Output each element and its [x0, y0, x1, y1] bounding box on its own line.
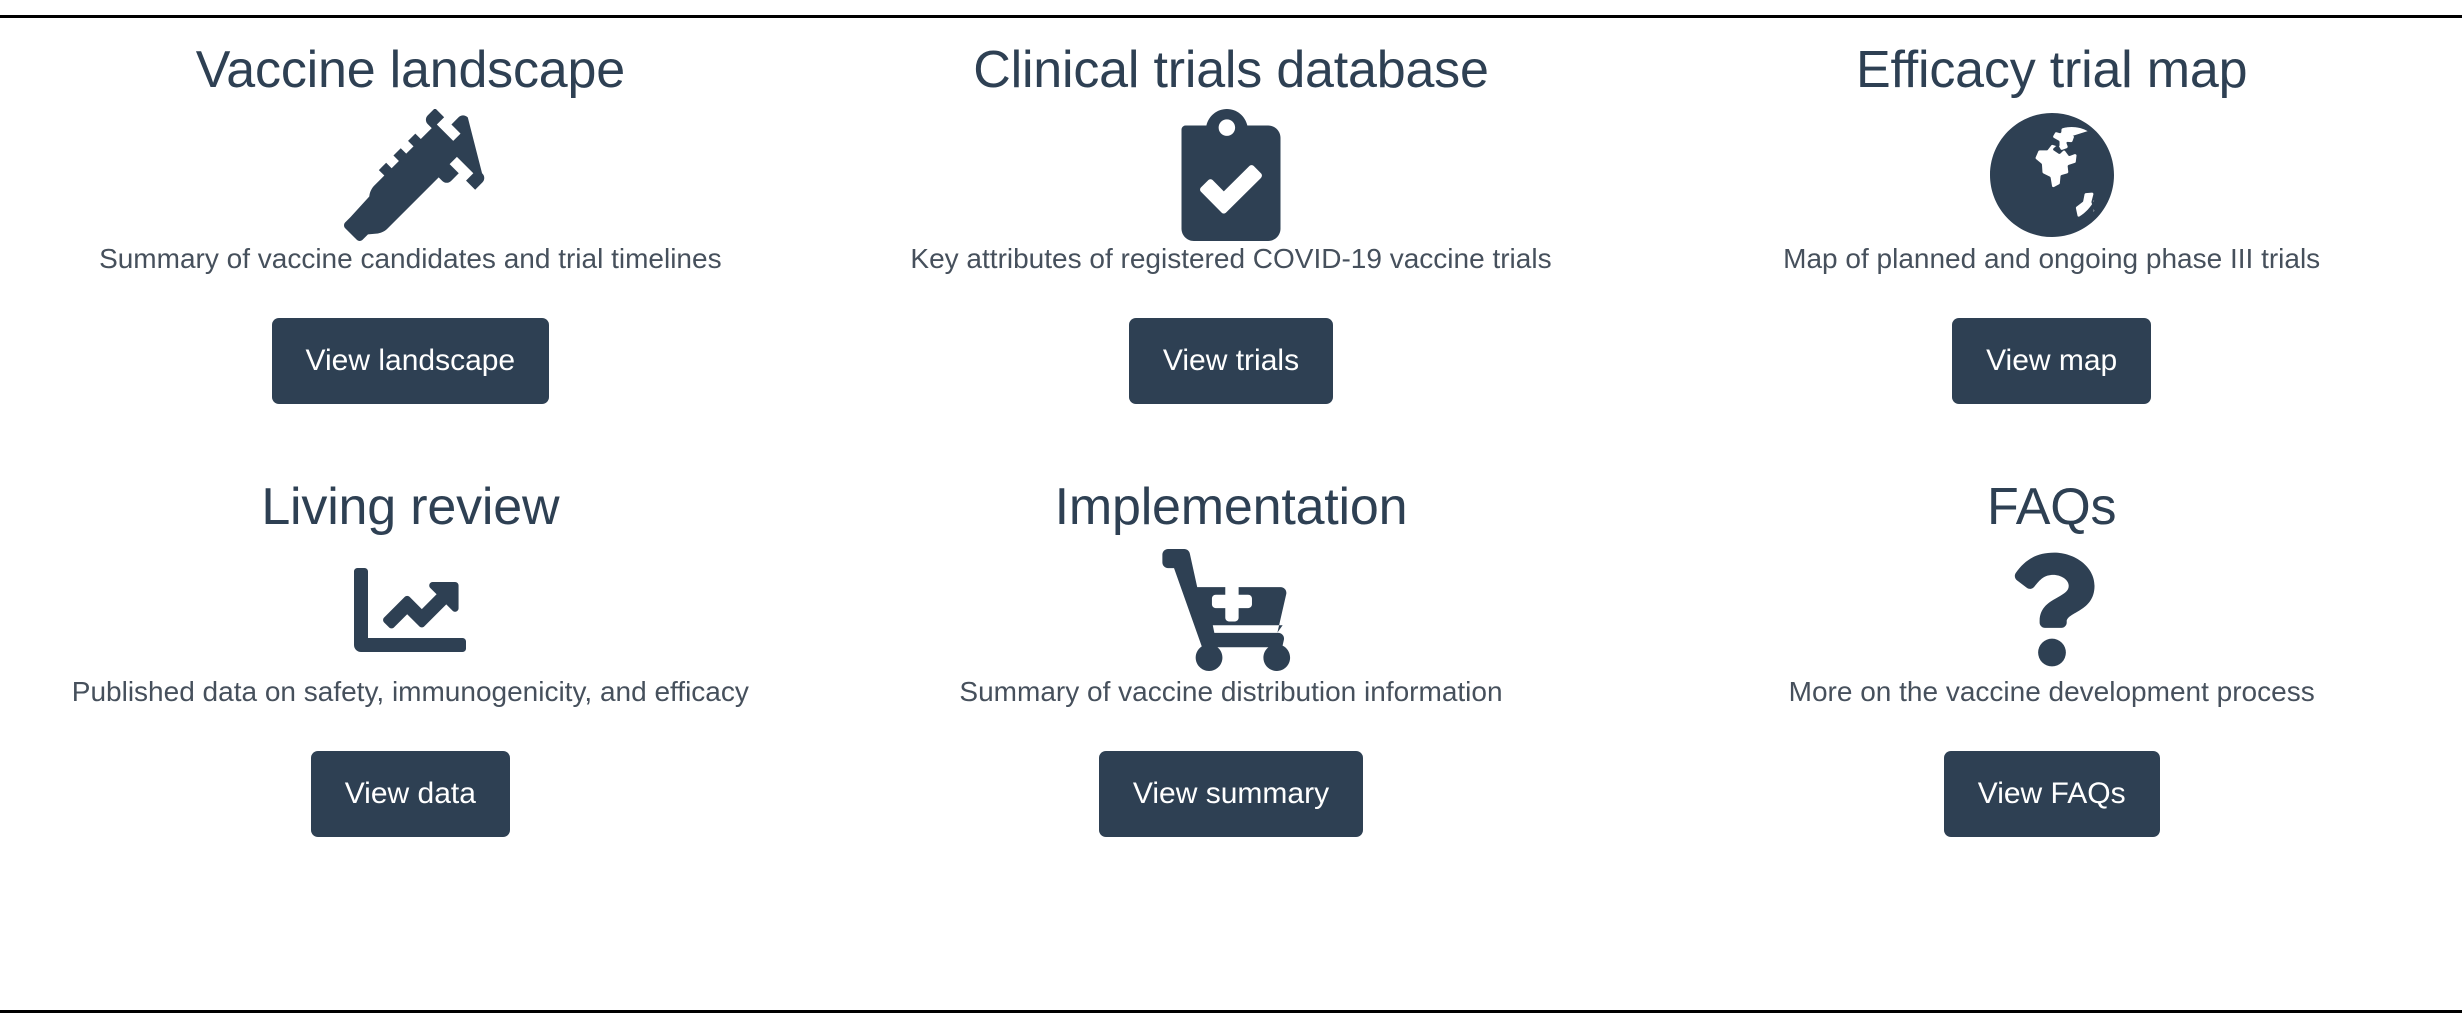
view-summary-button[interactable]: View summary — [1099, 751, 1363, 837]
cart-plus-icon — [1161, 546, 1301, 674]
card-living-review: Living review Published data on safety, … — [0, 479, 821, 916]
card-faqs: FAQs More on the vaccine development pro… — [1641, 479, 2462, 916]
syringe-icon — [335, 109, 485, 241]
card-grid: Vaccine landscape Summary of vaccine can… — [0, 18, 2462, 1008]
question-mark-icon — [2009, 546, 2095, 674]
card-description: Map of planned and ongoing phase III tri… — [1783, 241, 2320, 276]
chart-line-up-icon — [347, 546, 473, 674]
view-map-button[interactable]: View map — [1952, 318, 2151, 404]
card-title: Vaccine landscape — [196, 42, 625, 99]
card-title: FAQs — [1987, 479, 2116, 536]
bottom-divider — [0, 1010, 2462, 1013]
card-title: Living review — [261, 479, 559, 536]
view-landscape-button[interactable]: View landscape — [272, 318, 550, 404]
card-clinical-trials-database: Clinical trials database Key attributes … — [821, 42, 1642, 479]
card-efficacy-trial-map: Efficacy trial map Map of planned and on… — [1641, 42, 2462, 479]
view-data-button[interactable]: View data — [311, 751, 510, 837]
card-title: Efficacy trial map — [1856, 42, 2247, 99]
card-vaccine-landscape: Vaccine landscape Summary of vaccine can… — [0, 42, 821, 479]
card-title: Implementation — [1055, 479, 1408, 536]
card-description: Key attributes of registered COVID-19 va… — [910, 241, 1551, 276]
card-description: Summary of vaccine distribution informat… — [959, 674, 1502, 709]
card-description: Published data on safety, immunogenicity… — [72, 674, 749, 709]
card-description: More on the vaccine development process — [1789, 674, 2315, 709]
view-trials-button[interactable]: View trials — [1129, 318, 1333, 404]
resource-grid-page: Vaccine landscape Summary of vaccine can… — [0, 0, 2462, 1034]
card-description: Summary of vaccine candidates and trial … — [99, 241, 722, 276]
clipboard-check-icon — [1177, 109, 1285, 241]
card-title: Clinical trials database — [973, 42, 1488, 99]
view-faqs-button[interactable]: View FAQs — [1944, 751, 2160, 837]
card-implementation: Implementation Summary of vaccine distri… — [821, 479, 1642, 916]
globe-icon — [1988, 109, 2116, 241]
